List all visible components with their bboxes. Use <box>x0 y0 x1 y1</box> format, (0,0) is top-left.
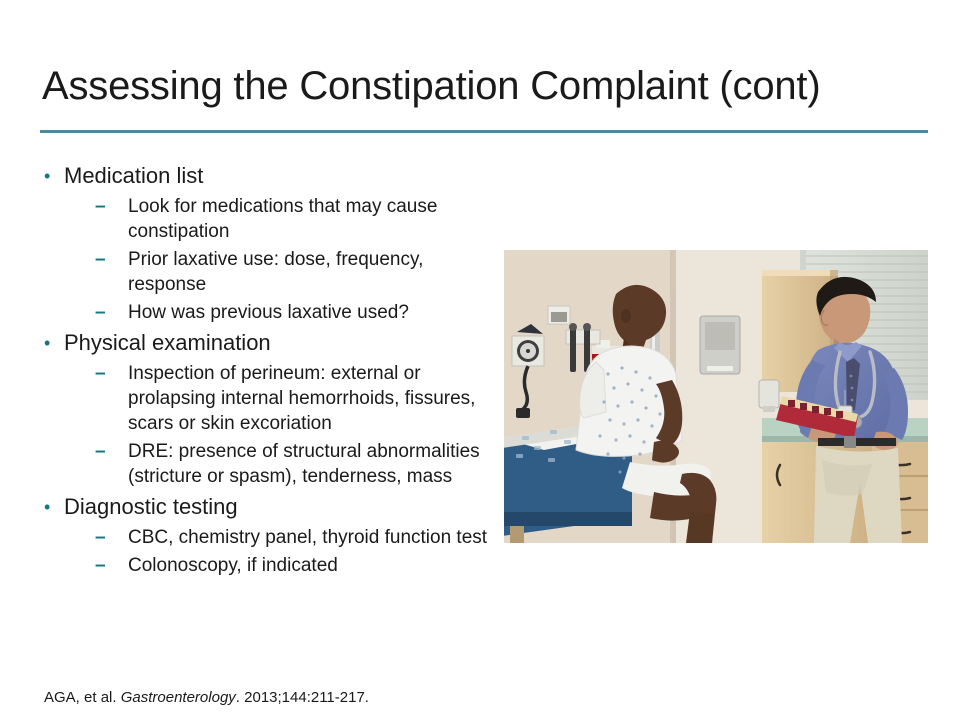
title-block: Assessing the Constipation Complaint (co… <box>42 62 932 110</box>
bullet-dash-icon: – <box>95 361 106 386</box>
sub-bullet-label: Look for medications that may cause cons… <box>128 194 498 244</box>
sub-bullet-group: – CBC, chemistry panel, thyroid function… <box>38 525 498 578</box>
citation-locator: . 2013;144:211-217. <box>236 689 369 706</box>
bullet-dot-icon: • <box>44 161 50 191</box>
exam-room-illustration <box>504 250 928 543</box>
bullet-item-level2: – How was previous laxative used? <box>38 300 498 325</box>
bullet-item-level1: • Physical examination <box>38 328 498 358</box>
bullet-dash-icon: – <box>95 553 106 578</box>
bullet-dot-icon: • <box>44 328 50 358</box>
title-divider-rule <box>40 130 928 133</box>
citation-journal: Gastroenterology <box>121 689 236 706</box>
bullet-item-level2: – Colonoscopy, if indicated <box>38 553 498 578</box>
slide-canvas: Assessing the Constipation Complaint (co… <box>0 0 960 720</box>
sub-bullet-group: – Look for medications that may cause co… <box>38 194 498 325</box>
sub-bullet-label: Inspection of perineum: external or prol… <box>128 361 498 436</box>
bullet-dash-icon: – <box>95 247 106 272</box>
sub-bullet-label: DRE: presence of structural abnormalitie… <box>128 439 498 489</box>
sub-bullet-label: Prior laxative use: dose, frequency, res… <box>128 247 498 297</box>
bullet-list: • Medication list – Look for medications… <box>38 161 498 581</box>
clinical-exam-room-photo <box>504 250 928 543</box>
bullet-dash-icon: – <box>95 300 106 325</box>
bullet-dot-icon: • <box>44 492 50 522</box>
bullet-item-level1: • Medication list <box>38 161 498 191</box>
bullet-item-level2: – DRE: presence of structural abnormalit… <box>38 439 498 489</box>
bullet-dash-icon: – <box>95 439 106 464</box>
sub-bullet-label: How was previous laxative used? <box>128 300 498 325</box>
bullet-item-level2: – Prior laxative use: dose, frequency, r… <box>38 247 498 297</box>
citation-footer: AGA, et al. Gastroenterology. 2013;144:2… <box>44 688 369 708</box>
bullet-item-level2: – Look for medications that may cause co… <box>38 194 498 244</box>
sub-bullet-label: Colonoscopy, if indicated <box>128 553 498 578</box>
citation-author: AGA, et al. <box>44 689 117 706</box>
bullet-label: Medication list <box>64 161 498 191</box>
bullet-item-level1: • Diagnostic testing <box>38 492 498 522</box>
sub-bullet-group: – Inspection of perineum: external or pr… <box>38 361 498 489</box>
bullet-item-level2: – CBC, chemistry panel, thyroid function… <box>38 525 498 550</box>
bullet-label: Physical examination <box>64 328 498 358</box>
bullet-dash-icon: – <box>95 525 106 550</box>
page-title: Assessing the Constipation Complaint (co… <box>42 62 932 110</box>
bullet-label: Diagnostic testing <box>64 492 498 522</box>
bullet-dash-icon: – <box>95 194 106 219</box>
sub-bullet-label: CBC, chemistry panel, thyroid function t… <box>128 525 498 550</box>
bullet-item-level2: – Inspection of perineum: external or pr… <box>38 361 498 436</box>
